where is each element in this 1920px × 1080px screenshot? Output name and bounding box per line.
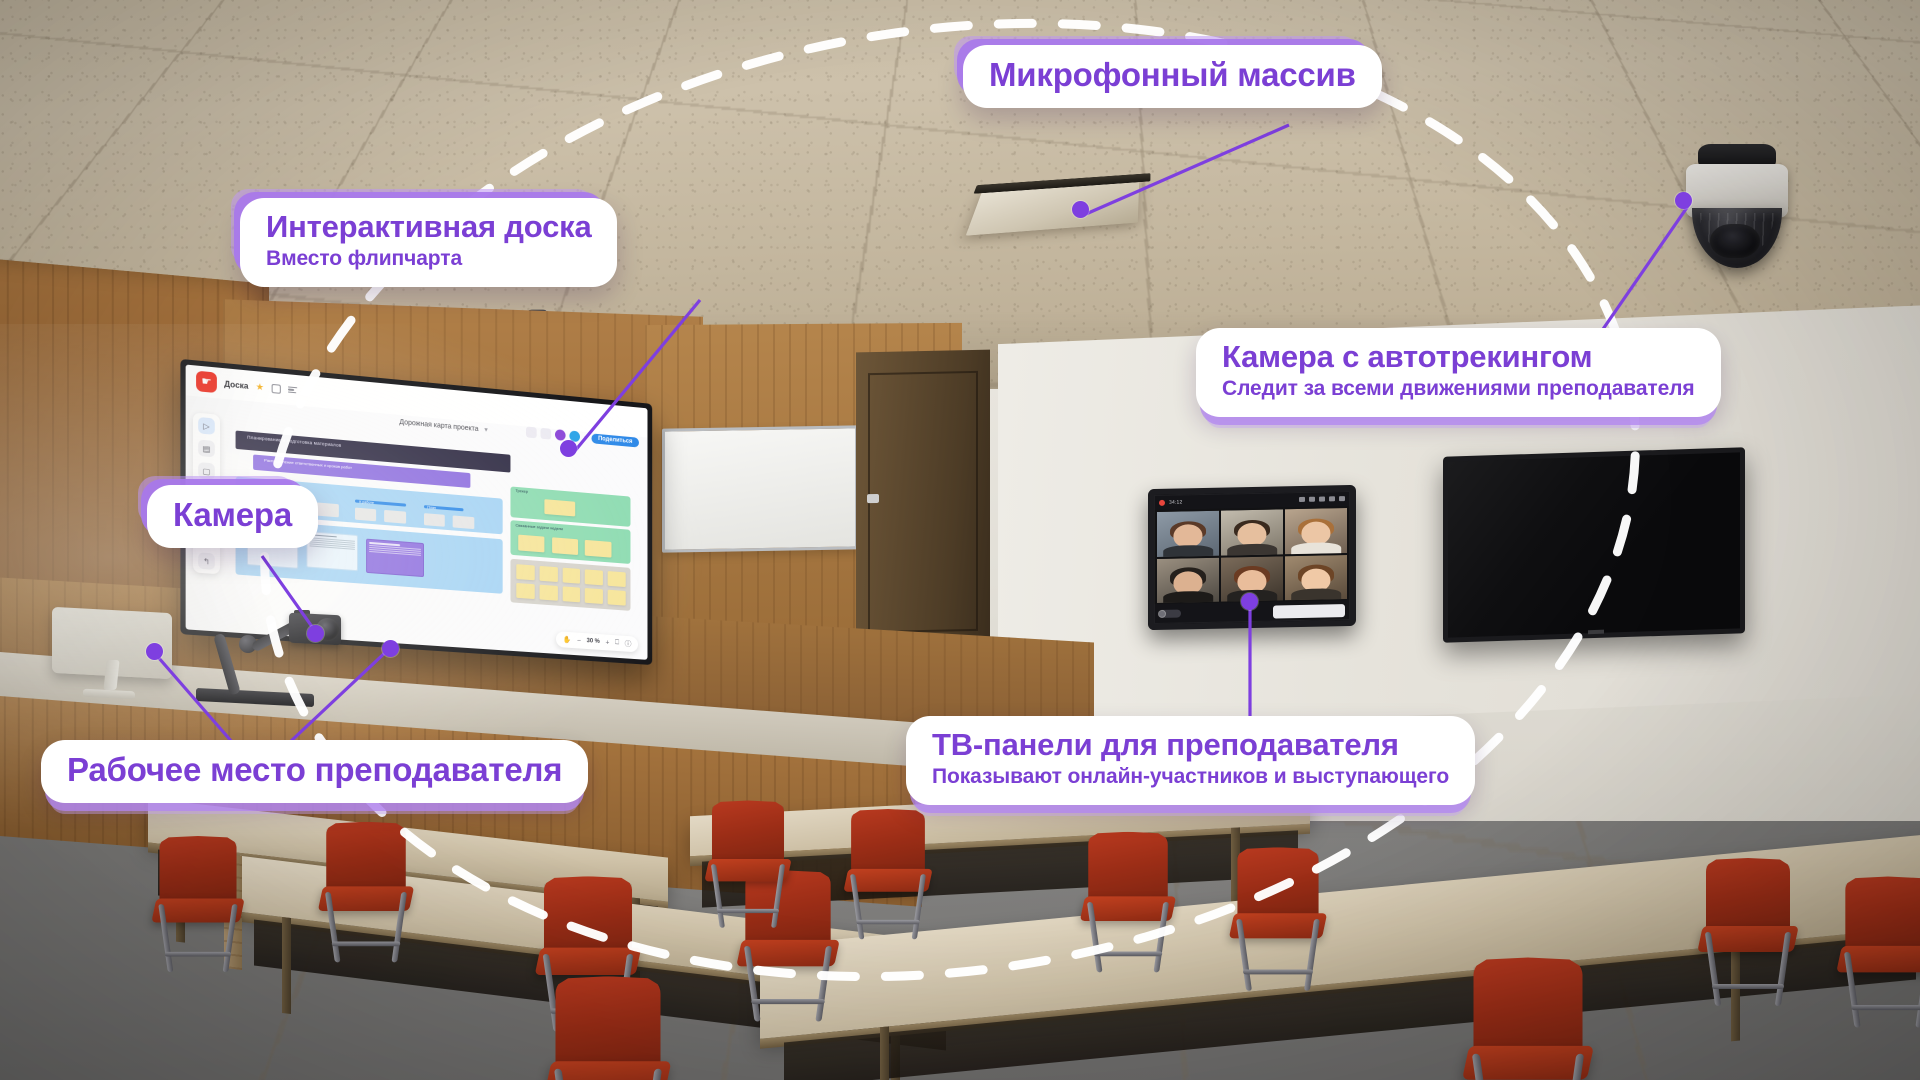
callout-title: Камера xyxy=(173,498,292,533)
anchor-dot-board xyxy=(560,440,577,457)
leader-autotrack xyxy=(1601,206,1688,332)
leader-board xyxy=(574,300,700,452)
callout-autotracking-camera[interactable]: Камера с автотрекингом Следит за всеми д… xyxy=(1196,328,1721,417)
callout-subtitle: Вместо флипчарта xyxy=(266,247,591,272)
callout-title: ТВ-панели для преподавателя xyxy=(932,729,1449,762)
callout-title: Рабочее место преподавателя xyxy=(67,753,562,788)
anchor-dot-camera xyxy=(307,625,324,642)
annotation-overlay: Микрофонный массив Интерактивная доска В… xyxy=(0,0,1920,1080)
leader-mic-array xyxy=(1086,125,1289,214)
leader-workplace xyxy=(158,657,232,742)
callout-title: Камера с автотрекингом xyxy=(1222,341,1695,374)
callout-title: Интерактивная доска xyxy=(266,211,591,244)
callout-mic-array[interactable]: Микрофонный массив xyxy=(963,45,1382,108)
dashed-highlight-path xyxy=(195,0,1705,1072)
callout-camera[interactable]: Камера xyxy=(147,485,318,548)
anchor-dot-workplace xyxy=(146,643,163,660)
callout-subtitle: Показывают онлайн-участников и выступающ… xyxy=(932,765,1449,790)
callout-title: Микрофонный массив xyxy=(989,58,1356,93)
anchor-dot-tv-panels xyxy=(1241,593,1258,610)
annotated-classroom-screenshot: 34:12 xyxy=(0,0,1920,1080)
anchor-dot-mic-array xyxy=(1072,201,1089,218)
leader-workplace-2 xyxy=(290,648,390,742)
callout-interactive-board[interactable]: Интерактивная доска Вместо флипчарта xyxy=(240,198,617,287)
anchor-dot-workplace-2 xyxy=(382,640,399,657)
callout-teacher-workplace[interactable]: Рабочее место преподавателя xyxy=(41,740,588,803)
anchor-dot-autotracking xyxy=(1675,192,1692,209)
callout-subtitle: Следит за всеми движениями преподавателя xyxy=(1222,377,1695,402)
callout-tv-panels[interactable]: ТВ-панели для преподавателя Показывают о… xyxy=(906,716,1475,805)
